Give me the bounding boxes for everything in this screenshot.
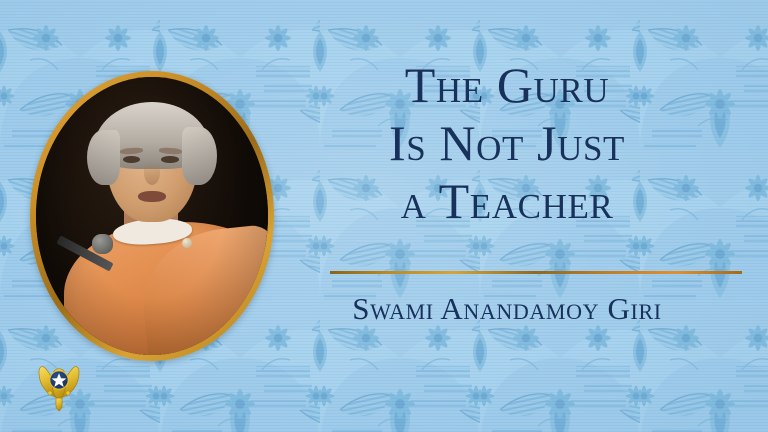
speaker-portrait: [30, 71, 274, 361]
title-line-2: Is Not Just: [272, 118, 742, 168]
portrait-photo: [36, 77, 268, 355]
title-line-3: a Teacher: [272, 176, 742, 226]
gold-divider-rule: [330, 271, 742, 274]
srf-lotus-emblem: [30, 358, 88, 416]
video-title-slide: The Guru Is Not Just a Teacher Swami Ana…: [0, 0, 768, 432]
title-block: The Guru Is Not Just a Teacher: [272, 60, 742, 226]
lotus-stem: [56, 398, 62, 411]
speaker-name: Swami Anandamoy Giri: [272, 291, 742, 327]
title-line-1: The Guru: [272, 60, 742, 110]
